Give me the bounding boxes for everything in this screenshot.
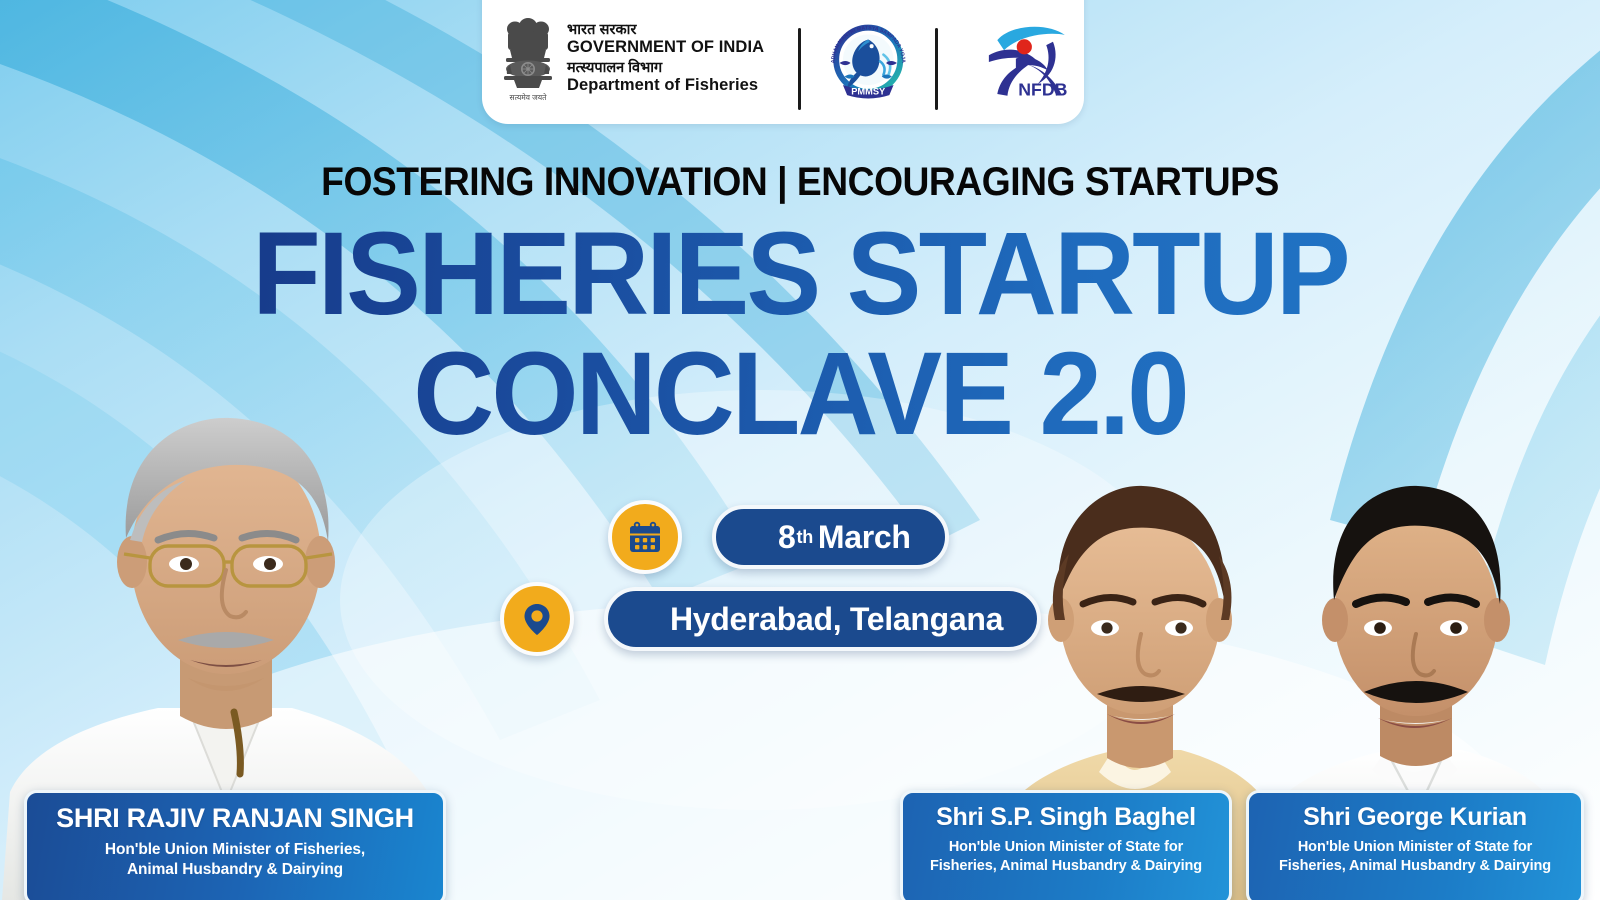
dignitary-role-line-1: Hon'ble Union Minister of Fisheries, [41, 840, 429, 860]
nfdb-figure-logo-icon: NFDB [972, 14, 1078, 110]
logo-divider-2 [935, 28, 938, 110]
dignitary-plate-rajiv-ranjan-singh: SHRI RAJIV RANJAN SINGH Hon'ble Union Mi… [24, 790, 446, 900]
dignitary-name: Shri S.P. Singh Baghel [917, 804, 1215, 832]
dignitary-role: Hon'ble Union Minister of Fisheries, Ani… [41, 840, 429, 881]
gov-hindi-line-2: मत्स्यपालन विभाग [567, 60, 764, 76]
title-line-1: FISHERIES STARTUP [40, 218, 1560, 330]
pmmsy-banner-text: PMMSY [851, 86, 886, 96]
header-logo-bar: सत्यमेव जयते भारत सरकार GOVERNMENT OF IN… [482, 0, 1084, 124]
date-day: 8 [778, 519, 796, 556]
calendar-icon [608, 500, 682, 574]
event-details-badges: 8thMarch Hyderabad, Telangana [500, 505, 1041, 669]
logo-divider-1 [798, 28, 801, 110]
nfdb-label: NFDB [1018, 80, 1067, 100]
dignitary-role-line-1: Hon'ble Union Minister of State for [1263, 838, 1567, 857]
event-tagline: FOSTERING INNOVATION | ENCOURAGING START… [56, 160, 1544, 205]
event-title: FISHERIES STARTUP CONCLAVE 2.0 [0, 218, 1600, 450]
gov-english-line-2: Department of Fisheries [567, 76, 764, 94]
ashoka-lion-capital-emblem-icon: सत्यमेव जयते [500, 12, 556, 104]
date-ordinal: th [797, 527, 813, 548]
poster-canvas: सत्यमेव जयते भारत सरकार GOVERNMENT OF IN… [0, 0, 1600, 900]
dignitary-role: Hon'ble Union Minister of State for Fish… [917, 838, 1215, 876]
pmmsy-fish-logo-icon: PRADHAN MANTRI MATSYA SAMPADA YOJANA PMM… [821, 6, 915, 110]
government-of-india-logo: सत्यमेव जयते भारत सरकार GOVERNMENT OF IN… [482, 6, 778, 110]
date-badge[interactable]: 8thMarch [608, 505, 1041, 569]
location-badge-pill: Hyderabad, Telangana [604, 587, 1041, 651]
dignitary-role-line-2: Animal Husbandry & Dairying [41, 860, 429, 880]
location-badge[interactable]: Hyderabad, Telangana [500, 587, 1041, 651]
dignitary-role-line-1: Hon'ble Union Minister of State for [917, 838, 1215, 857]
date-badge-pill: 8thMarch [712, 505, 949, 569]
gov-english-line-1: GOVERNMENT OF INDIA [567, 38, 764, 56]
dignitary-name: Shri George Kurian [1263, 804, 1567, 832]
emblem-motto: सत्यमेव जयते [510, 93, 548, 102]
dignitary-name: SHRI RAJIV RANJAN SINGH [41, 804, 429, 834]
dignitary-plate-sp-singh-baghel: Shri S.P. Singh Baghel Hon'ble Union Min… [900, 790, 1232, 900]
location-pin-icon [500, 582, 574, 656]
dignitary-role: Hon'ble Union Minister of State for Fish… [1263, 838, 1567, 876]
title-line-2: CONCLAVE 2.0 [40, 338, 1560, 450]
dignitary-plate-george-kurian: Shri George Kurian Hon'ble Union Ministe… [1246, 790, 1584, 900]
date-month: March [818, 519, 911, 556]
dignitary-role-line-2: Fisheries, Animal Husbandry & Dairying [1263, 857, 1567, 876]
gov-hindi-line-1: भारत सरकार [567, 22, 764, 38]
dignitary-role-line-2: Fisheries, Animal Husbandry & Dairying [917, 857, 1215, 876]
nfdb-red-dot-icon [1016, 39, 1031, 54]
